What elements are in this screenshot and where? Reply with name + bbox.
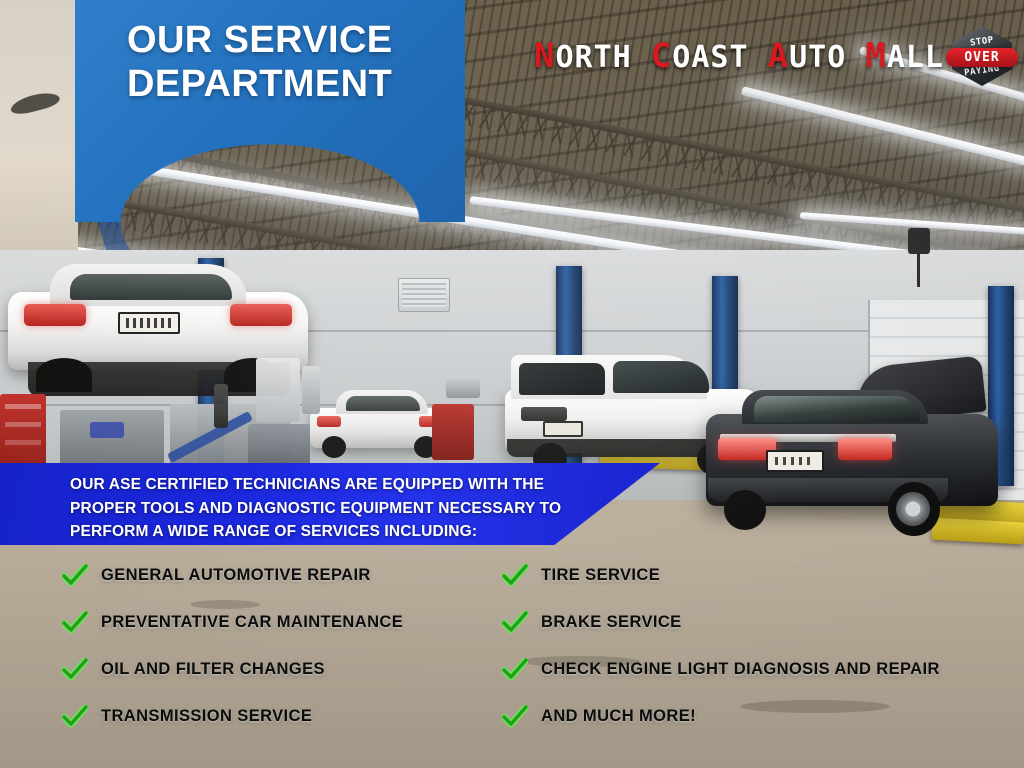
service-label: TRANSMISSION SERVICE xyxy=(101,707,312,726)
service-department-poster: OUR SERVICE DEPARTMENT NORTH COAST AUTO … xyxy=(0,0,1024,768)
stop-over-paying-badge[interactable]: STOP PAYING OVER xyxy=(952,26,1012,86)
checkmark-icon xyxy=(502,658,528,682)
checkmark-icon xyxy=(62,658,88,682)
page-title-line2: DEPARTMENT xyxy=(127,62,447,106)
checkmark-icon xyxy=(502,611,528,635)
checkmark-icon xyxy=(62,564,88,588)
service-label: TIRE SERVICE xyxy=(541,566,660,585)
service-item: OIL AND FILTER CHANGES xyxy=(62,658,502,682)
header-panel: OUR SERVICE DEPARTMENT xyxy=(75,0,465,222)
checkmark-icon xyxy=(502,564,528,588)
brand-cap-a: A xyxy=(768,36,789,76)
left-wall xyxy=(0,0,78,270)
badge-middle-text: OVER xyxy=(946,48,1018,67)
service-label: AND MUCH MORE! xyxy=(541,707,696,726)
service-item: BRAKE SERVICE xyxy=(502,611,1024,635)
service-item: GENERAL AUTOMOTIVE REPAIR xyxy=(62,564,502,588)
page-title-line1: OUR SERVICE xyxy=(127,18,447,62)
brand-wordmark: NORTH COAST AUTO MALL xyxy=(534,36,944,76)
description-line-3: PERFORM A WIDE RANGE OF SERVICES INCLUDI… xyxy=(70,520,590,544)
wall-panel-box xyxy=(256,358,300,422)
service-label: GENERAL AUTOMOTIVE REPAIR xyxy=(101,566,371,585)
brand-rest-coast: OAST xyxy=(672,40,748,75)
checkmark-icon xyxy=(62,611,88,635)
service-item: PREVENTATIVE CAR MAINTENANCE xyxy=(62,611,502,635)
service-item: CHECK ENGINE LIGHT DIAGNOSIS AND REPAIR xyxy=(502,658,1024,682)
description-banner: OUR ASE CERTIFIED TECHNICIANS ARE EQUIPP… xyxy=(0,463,660,545)
service-label: PREVENTATIVE CAR MAINTENANCE xyxy=(101,613,403,632)
checkmark-icon xyxy=(502,705,528,729)
lift-control xyxy=(214,384,228,428)
shop-equipment xyxy=(446,376,480,398)
floor-jack xyxy=(90,422,124,438)
brand-rest-north: ORTH xyxy=(555,40,631,75)
dark-sedan-trunk-open xyxy=(706,362,1006,577)
brand-cap-c: C xyxy=(651,36,672,76)
red-tool-cabinet xyxy=(432,404,474,460)
service-item: AND MUCH MORE! xyxy=(502,705,1024,729)
white-sedan-on-floor xyxy=(310,390,450,460)
service-label: OIL AND FILTER CHANGES xyxy=(101,660,325,679)
brand-rest-mall: ALL xyxy=(887,40,944,75)
service-item: TRANSMISSION SERVICE xyxy=(62,705,502,729)
services-list: GENERAL AUTOMOTIVE REPAIR TIRE SERVICE P… xyxy=(0,552,1024,752)
service-item: TIRE SERVICE xyxy=(502,564,1024,588)
checkmark-icon xyxy=(62,705,88,729)
brand-cap-m: M xyxy=(865,36,886,76)
service-label: CHECK ENGINE LIGHT DIAGNOSIS AND REPAIR xyxy=(541,660,940,679)
overhead-heater xyxy=(398,278,450,312)
brand-logo[interactable]: NORTH COAST AUTO MALL STOP PAYING OVER xyxy=(534,26,1012,86)
description-line-2: PROPER TOOLS AND DIAGNOSTIC EQUIPMENT NE… xyxy=(70,497,590,521)
wall-panel-box xyxy=(302,366,320,414)
page-title: OUR SERVICE DEPARTMENT xyxy=(75,18,465,106)
brand-rest-auto: UTO xyxy=(789,40,846,75)
description-text: OUR ASE CERTIFIED TECHNICIANS ARE EQUIPP… xyxy=(70,473,590,544)
wall-speaker xyxy=(908,228,930,254)
brand-cap-n: N xyxy=(534,36,555,76)
description-line-1: OUR ASE CERTIFIED TECHNICIANS ARE EQUIPP… xyxy=(70,473,590,497)
service-label: BRAKE SERVICE xyxy=(541,613,682,632)
